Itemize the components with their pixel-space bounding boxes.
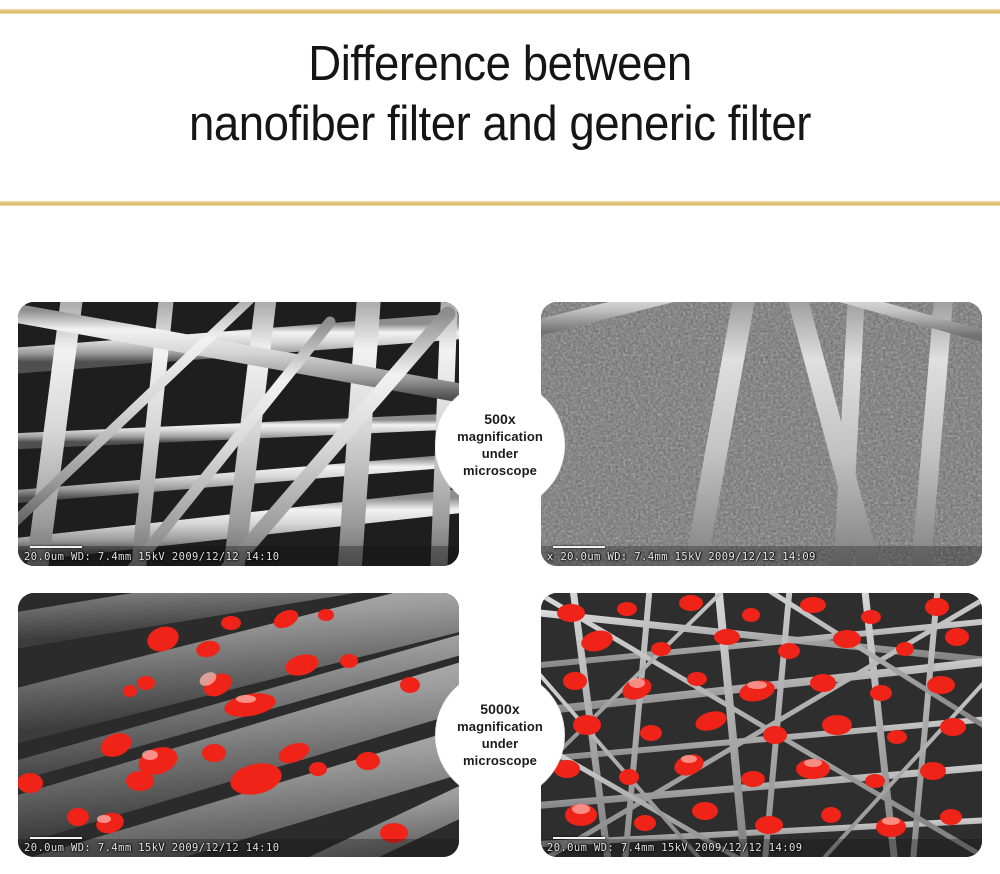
magnification-badge-5000x: 5000x magnification under microscope xyxy=(436,671,564,799)
scale-bar xyxy=(553,546,605,548)
scale-bar xyxy=(553,837,605,839)
infographic-page: Difference between nanofiber filter and … xyxy=(0,0,1000,874)
badge-line-2: under xyxy=(482,735,519,752)
bottom-divider-rule xyxy=(0,201,1000,206)
badge-line-1: magnification xyxy=(457,718,543,735)
badge-line-3: microscope xyxy=(463,462,537,479)
sem-image-nanofiber-500x xyxy=(541,302,982,566)
sem-image-generic-500x xyxy=(18,302,459,566)
page-title: Difference between nanofiber filter and … xyxy=(0,34,1000,154)
micrograph-panel-top-right: x 20.0um WD: 7.4mm 15kV 2009/12/12 14:09 xyxy=(541,302,982,566)
badge-line-2: under xyxy=(482,445,519,462)
scale-bar xyxy=(30,837,82,839)
micrograph-panel-top-left: 20.0um WD: 7.4mm 15kV 2009/12/12 14:10 xyxy=(18,302,459,566)
page-title-line-1: Difference between xyxy=(35,34,965,94)
magnification-badge-500x: 500x magnification under microscope xyxy=(436,381,564,509)
badge-line-3: microscope xyxy=(463,752,537,769)
sem-image-nanofiber-5000x xyxy=(541,593,982,857)
micrograph-panel-bottom-right: 20.0um WD: 7.4mm 15kV 2009/12/12 14:09 xyxy=(541,593,982,857)
micrograph-panel-bottom-left: 20.0um WD: 7.4mm 15kV 2009/12/12 14:10 xyxy=(18,593,459,857)
badge-line-1: magnification xyxy=(457,428,543,445)
top-divider-rule xyxy=(0,9,1000,14)
page-title-line-2: nanofiber filter and generic filter xyxy=(35,94,965,154)
badge-zoom-value: 500x xyxy=(484,411,516,428)
sem-image-generic-5000x xyxy=(18,593,459,857)
scale-bar xyxy=(30,546,82,548)
badge-zoom-value: 5000x xyxy=(480,701,519,718)
